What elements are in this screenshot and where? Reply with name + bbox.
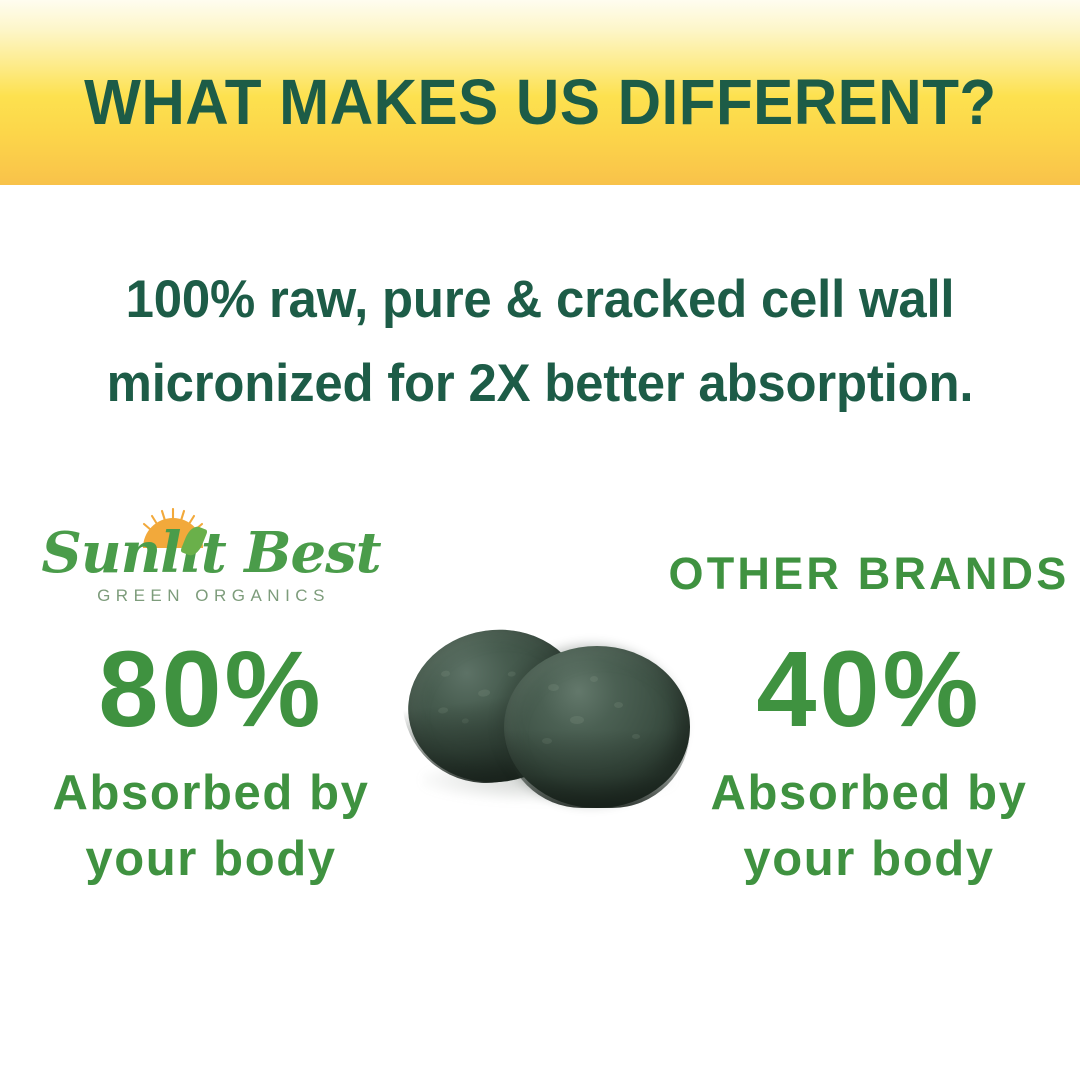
page-title: WHAT MAKES US DIFFERENT? [84, 70, 997, 134]
caption-others: Absorbed by your body [664, 760, 1074, 892]
comparison-column-ours: Sunlit Best GREEN ORGANICS 80% Absorbed … [6, 500, 416, 892]
caption-ours-line-1: Absorbed by [6, 760, 416, 826]
brand-tagline: GREEN ORGANICS [6, 586, 416, 606]
header-banner: WHAT MAKES US DIFFERENT? [0, 0, 1080, 185]
subheadline: 100% raw, pure & cracked cell wall micro… [22, 258, 1059, 426]
other-brands-heading: OTHER BRANDS [664, 500, 1074, 612]
infographic-page: WHAT MAKES US DIFFERENT? 100% raw, pure … [0, 0, 1080, 1080]
caption-others-line-2: your body [664, 826, 1074, 892]
spirulina-tablets-image [400, 612, 700, 812]
subheadline-line-2: micronized for 2X better absorption. [22, 342, 1059, 426]
brand-logo: Sunlit Best GREEN ORGANICS [6, 500, 416, 612]
percent-value-ours: 80% [6, 630, 416, 748]
caption-ours-line-2: your body [6, 826, 416, 892]
percent-value-others: 40% [664, 630, 1074, 748]
caption-ours: Absorbed by your body [6, 760, 416, 892]
brand-wordmark: Sunlit Best [6, 522, 416, 584]
subheadline-line-1: 100% raw, pure & cracked cell wall [22, 258, 1059, 342]
caption-others-line-1: Absorbed by [664, 760, 1074, 826]
comparison-column-others: OTHER BRANDS 40% Absorbed by your body [664, 500, 1074, 892]
